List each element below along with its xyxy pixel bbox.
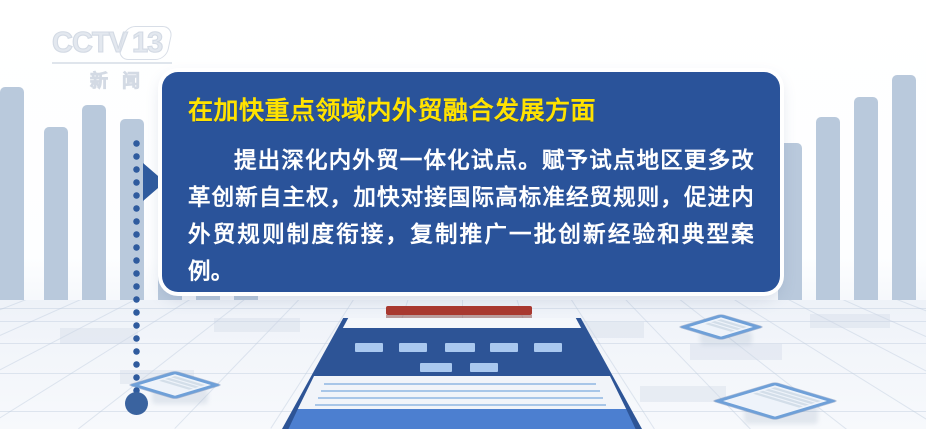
main-callout-card: 在加快重点领域内外贸融合发展方面 提出深化内外贸一体化试点。赋予试点地区更多改革… [162, 72, 780, 292]
floor-tile [810, 314, 890, 328]
decoration-bar-right [778, 143, 802, 310]
floor-tile [640, 386, 726, 402]
document-chip [445, 343, 475, 352]
connector-end-dot [125, 392, 148, 415]
document-red-header-bar [386, 306, 532, 315]
callout-title: 在加快重点领域内外贸融合发展方面 [188, 94, 754, 128]
decoration-bar-left [120, 119, 144, 310]
document-chip [470, 363, 498, 372]
document-chip [420, 363, 452, 372]
callout-body-text: 提出深化内外贸一体化试点。赋予试点地区更多改革创新自主权，加快对接国际高标准经贸… [188, 142, 754, 290]
decoration-bar-right [854, 97, 878, 310]
document-chip [399, 343, 427, 352]
decoration-bar-right [816, 117, 840, 310]
floor-tile [60, 328, 138, 344]
decoration-bar-right [892, 75, 916, 310]
logo-underline [52, 62, 172, 64]
document-text-line [324, 383, 596, 385]
decoration-bar-left [44, 127, 68, 310]
logo-channel-number: 13 [117, 26, 173, 60]
dotted-connector-line [133, 140, 140, 405]
document-red-bar-shadow [386, 315, 532, 318]
document-chip [490, 343, 518, 352]
document-chip [534, 343, 562, 352]
document-text-line [318, 397, 603, 399]
document-text-line [321, 390, 600, 392]
central-report-document [282, 306, 642, 429]
broadcast-graphic-stage: CCTV13 新闻 在加快重点领域内外贸融合发展方面 提出深化内外贸一体化试点。… [0, 0, 926, 429]
document-chip [355, 343, 383, 352]
floor-tile [690, 344, 782, 360]
logo-cctv-text: CCTV [52, 27, 127, 59]
decoration-bar-left [82, 105, 106, 310]
document-base-plate [282, 409, 642, 429]
decoration-bar-left [0, 87, 24, 310]
document-top-white-strip [282, 318, 642, 328]
document-text-line [315, 404, 606, 406]
